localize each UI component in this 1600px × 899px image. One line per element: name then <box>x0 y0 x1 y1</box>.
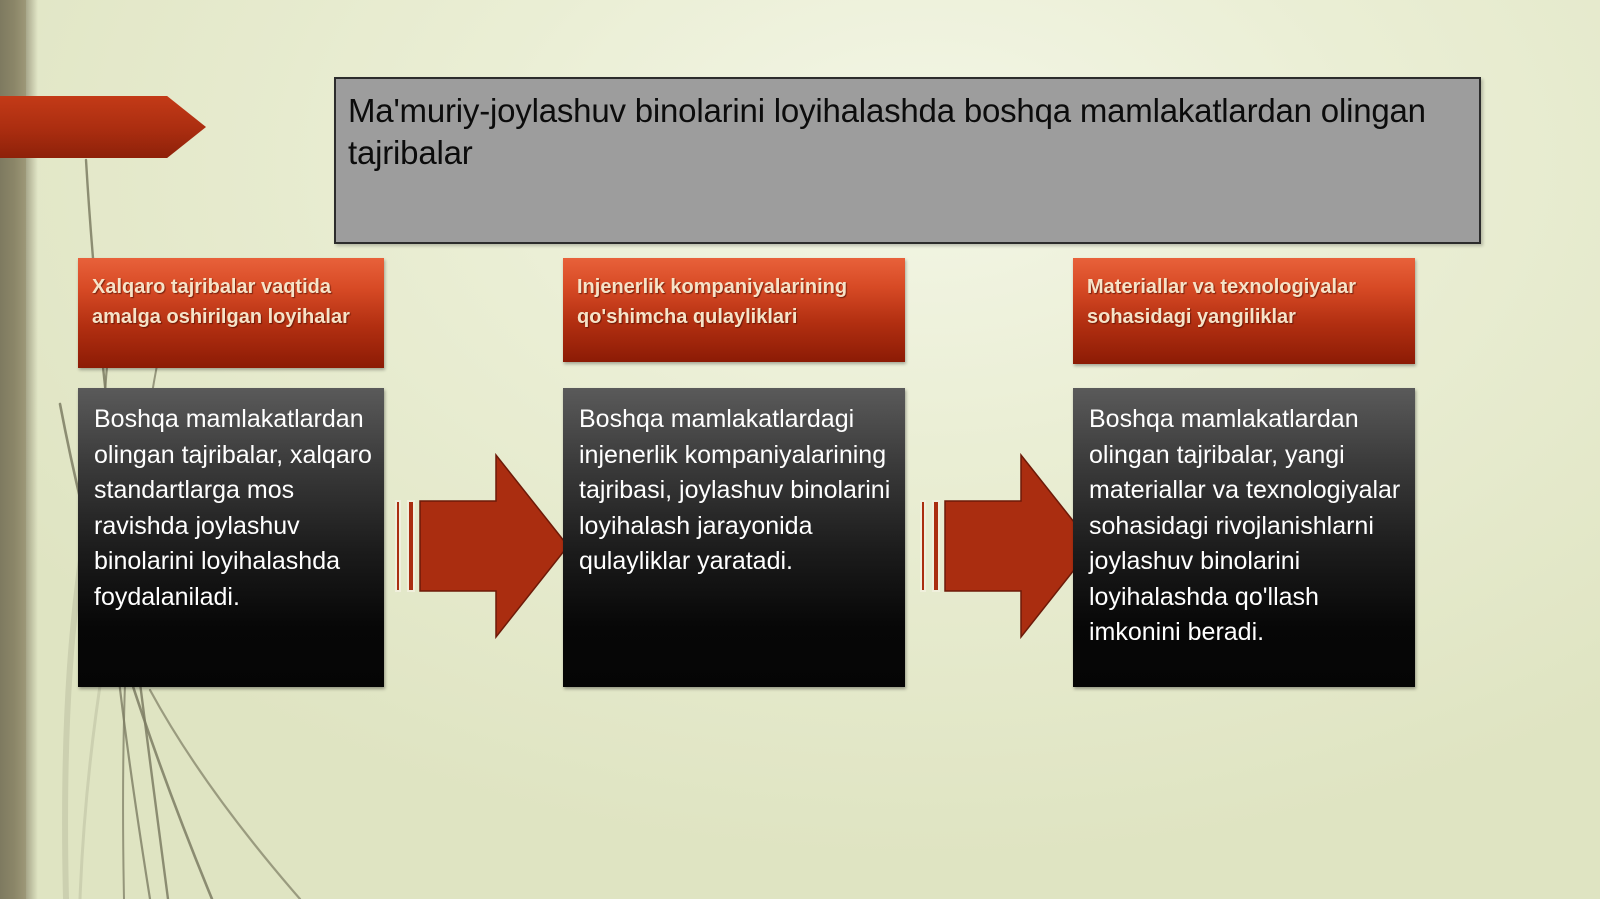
column-2: Injenerlik kompaniyalarining qo'shimcha … <box>563 258 905 687</box>
column-2-body: Boshqa mamlakatlardagi injenerlik kompan… <box>579 402 895 580</box>
column-1-heading: Xalqaro tajribalar vaqtida amalga oshiri… <box>92 272 372 332</box>
column-2-body-box[interactable]: Boshqa mamlakatlardagi injenerlik kompan… <box>563 388 905 687</box>
column-3-body: Boshqa mamlakatlardan olingan tajribalar… <box>1089 402 1405 651</box>
red-banner-shape <box>0 96 206 158</box>
column-3-heading: Materiallar va texnologiyalar sohasidagi… <box>1087 272 1403 332</box>
column-1: Xalqaro tajribalar vaqtida amalga oshiri… <box>78 258 384 687</box>
title-box: Ma'muriy-joylashuv binolarini loyihalash… <box>334 77 1481 244</box>
column-2-header-box[interactable]: Injenerlik kompaniyalarining qo'shimcha … <box>563 258 905 362</box>
column-1-body: Boshqa mamlakatlardan olingan tajribalar… <box>94 402 374 615</box>
right-arrow-icon-1 <box>388 443 573 648</box>
column-3: Materiallar va texnologiyalar sohasidagi… <box>1073 258 1415 687</box>
column-1-header-box[interactable]: Xalqaro tajribalar vaqtida amalga oshiri… <box>78 258 384 368</box>
column-1-body-box[interactable]: Boshqa mamlakatlardan olingan tajribalar… <box>78 388 384 687</box>
page-title: Ma'muriy-joylashuv binolarini loyihalash… <box>348 90 1465 174</box>
column-3-body-box[interactable]: Boshqa mamlakatlardan olingan tajribalar… <box>1073 388 1415 687</box>
slide-canvas: Ma'muriy-joylashuv binolarini loyihalash… <box>0 0 1600 899</box>
column-3-header-box[interactable]: Materiallar va texnologiyalar sohasidagi… <box>1073 258 1415 364</box>
column-2-heading: Injenerlik kompaniyalarining qo'shimcha … <box>577 272 893 332</box>
right-arrow-icon-2 <box>913 443 1098 648</box>
